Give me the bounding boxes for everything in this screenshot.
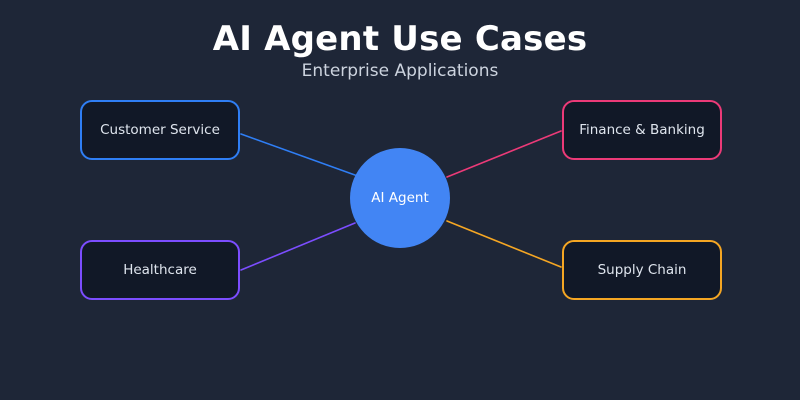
node-label: Finance & Banking <box>579 121 705 139</box>
hub-node-label: AI Agent <box>371 189 428 207</box>
edge-healthcare-to-hub <box>241 223 355 270</box>
node-label: Supply Chain <box>598 261 687 279</box>
node-finance-banking[interactable]: Finance & Banking <box>562 100 722 160</box>
node-customer-service[interactable]: Customer Service <box>80 100 240 160</box>
node-label: Customer Service <box>100 121 220 139</box>
node-supply-chain[interactable]: Supply Chain <box>562 240 722 300</box>
edge-supply-chain-to-hub <box>447 221 561 267</box>
hub-node-ai-agent[interactable]: AI Agent <box>350 148 450 248</box>
edge-customer-service-to-hub <box>241 134 366 179</box>
edge-finance-banking-to-hub <box>447 131 561 177</box>
diagram-canvas: AI Agent Use Cases Enterprise Applicatio… <box>0 0 800 400</box>
node-label: Healthcare <box>123 261 197 279</box>
node-healthcare[interactable]: Healthcare <box>80 240 240 300</box>
